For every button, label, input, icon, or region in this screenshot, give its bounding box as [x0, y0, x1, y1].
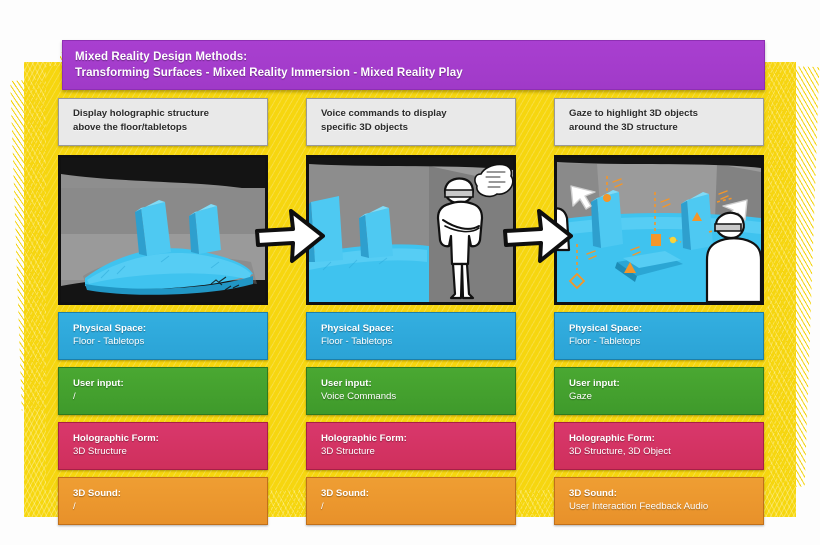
column-1-physical-space-bar: Physical Space: Floor - Tabletops — [58, 312, 268, 360]
row-label-user-input: User input: — [569, 377, 763, 390]
storyboard-canvas: Mixed Reality Design Methods: Transformi… — [0, 0, 820, 545]
row-label-holographic-form: Holographic Form: — [569, 432, 763, 445]
column-1-physical-space-value: Floor - Tabletops — [73, 335, 267, 349]
column-2-sound-bar: 3D Sound: / — [306, 477, 516, 525]
column-2-holographic-form-value: 3D Structure — [321, 445, 515, 459]
row-label-user-input: User input: — [321, 377, 515, 390]
title-line-1: Mixed Reality Design Methods: — [75, 50, 764, 65]
column-3-caption: Gaze to highlight 3D objects around the … — [554, 98, 764, 146]
row-label-sound: 3D Sound: — [569, 487, 763, 500]
row-label-physical-space: Physical Space: — [321, 322, 515, 335]
column-3-physical-space-bar: Physical Space: Floor - Tabletops — [554, 312, 764, 360]
column-3-user-input-value: Gaze — [569, 390, 763, 404]
caption-line-2: specific 3D objects — [321, 121, 515, 135]
caption-line-1: Display holographic structure — [73, 107, 267, 121]
column-2-sound-value: / — [321, 500, 515, 514]
column-2-sketch-panel — [306, 155, 516, 305]
column-2-physical-space-bar: Physical Space: Floor - Tabletops — [306, 312, 516, 360]
column-1-sound-bar: 3D Sound: / — [58, 477, 268, 525]
column-1-user-input-value: / — [73, 390, 267, 404]
caption-line-1: Voice commands to display — [321, 107, 515, 121]
column-1-caption: Display holographic structure above the … — [58, 98, 268, 146]
caption-line-2: around the 3D structure — [569, 121, 763, 135]
column-1-sketch-panel — [58, 155, 268, 305]
column-3-holographic-form-value: 3D Structure, 3D Object — [569, 445, 763, 459]
row-label-sound: 3D Sound: — [73, 487, 267, 500]
flow-arrow-1-icon — [255, 205, 325, 267]
sketch-voice-command — [309, 158, 513, 302]
sketch-holographic-structure — [61, 158, 265, 302]
column-3-sound-bar: 3D Sound: User Interaction Feedback Audi… — [554, 477, 764, 525]
column-3-sound-value: User Interaction Feedback Audio — [569, 500, 763, 514]
storyboard-column-2: Voice commands to display specific 3D ob… — [306, 98, 516, 525]
column-3-sketch-panel — [554, 155, 764, 305]
column-3-holographic-form-bar: Holographic Form: 3D Structure, 3D Objec… — [554, 422, 764, 470]
column-1-user-input-bar: User input: / — [58, 367, 268, 415]
column-2-caption: Voice commands to display specific 3D ob… — [306, 98, 516, 146]
column-1-holographic-form-bar: Holographic Form: 3D Structure — [58, 422, 268, 470]
column-2-holographic-form-bar: Holographic Form: 3D Structure — [306, 422, 516, 470]
row-label-physical-space: Physical Space: — [73, 322, 267, 335]
flow-arrow-2-icon — [503, 205, 573, 267]
row-label-user-input: User input: — [73, 377, 267, 390]
column-3-user-input-bar: User input: Gaze — [554, 367, 764, 415]
row-label-holographic-form: Holographic Form: — [73, 432, 267, 445]
column-1-sound-value: / — [73, 500, 267, 514]
column-1-holographic-form-value: 3D Structure — [73, 445, 267, 459]
row-label-sound: 3D Sound: — [321, 487, 515, 500]
storyboard-column-1: Display holographic structure above the … — [58, 98, 268, 525]
column-3-physical-space-value: Floor - Tabletops — [569, 335, 763, 349]
title-line-2: Transforming Surfaces - Mixed Reality Im… — [75, 65, 764, 81]
arrow-right-icon — [255, 205, 325, 267]
sketch-gaze-highlight — [557, 158, 761, 302]
column-2-user-input-value: Voice Commands — [321, 390, 515, 404]
arrow-right-icon — [503, 205, 573, 267]
row-label-holographic-form: Holographic Form: — [321, 432, 515, 445]
caption-line-1: Gaze to highlight 3D objects — [569, 107, 763, 121]
caption-line-2: above the floor/tabletops — [73, 121, 267, 135]
title-banner: Mixed Reality Design Methods: Transformi… — [62, 40, 765, 90]
storyboard-column-3: Gaze to highlight 3D objects around the … — [554, 98, 764, 525]
column-2-physical-space-value: Floor - Tabletops — [321, 335, 515, 349]
row-label-physical-space: Physical Space: — [569, 322, 763, 335]
column-2-user-input-bar: User input: Voice Commands — [306, 367, 516, 415]
